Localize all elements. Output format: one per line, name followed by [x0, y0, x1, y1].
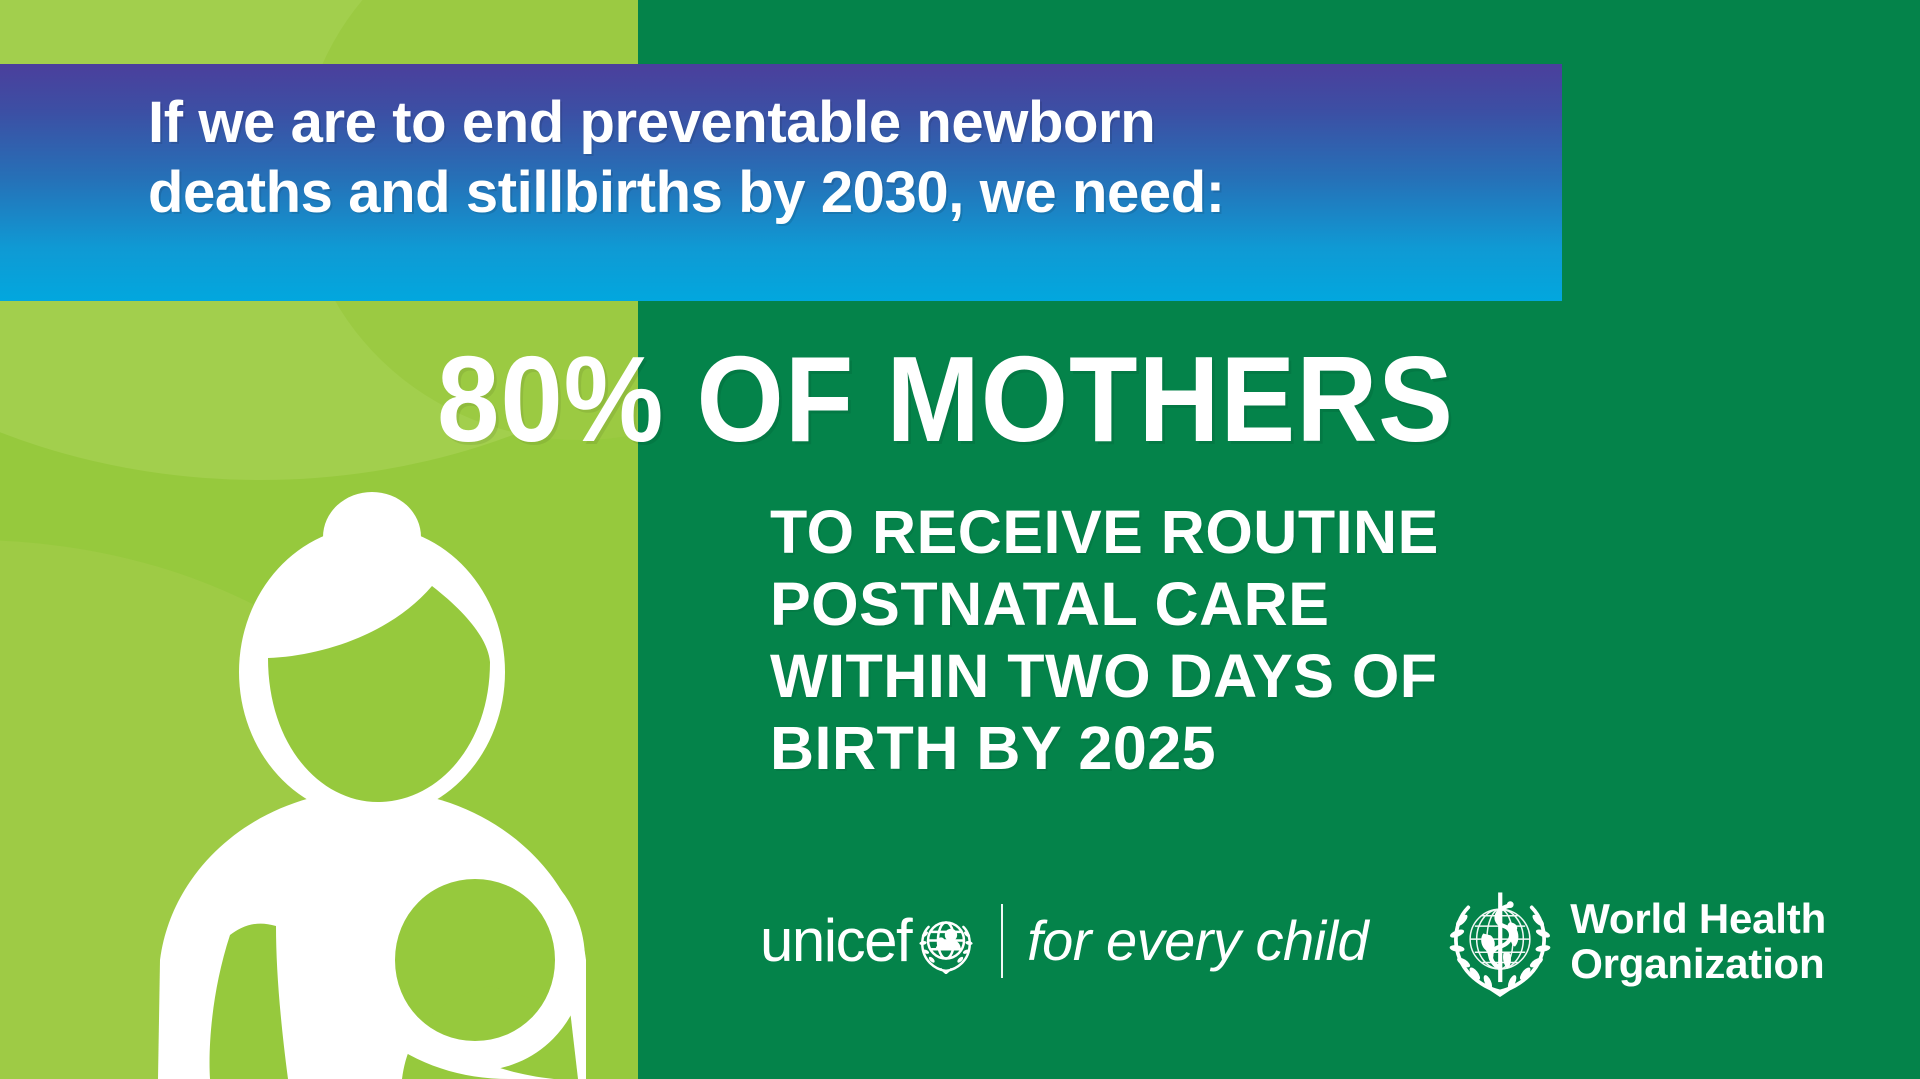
- logo-divider: [1001, 904, 1003, 978]
- banner-text: If we are to end preventable newborn dea…: [148, 88, 1522, 227]
- who-emblem: [1444, 885, 1556, 997]
- logo-strip: unicef: [760, 886, 1826, 996]
- unicef-logo: unicef: [760, 899, 1368, 983]
- page-title: 80% OF MOTHERS: [437, 338, 1661, 460]
- who-logo: World Health Organization: [1444, 885, 1826, 997]
- infographic-poster: If we are to end preventable newborn dea…: [0, 0, 1920, 1079]
- subtitle-text: TO RECEIVE ROUTINE POSTNATAL CARE WITHIN…: [770, 497, 1690, 785]
- who-organization-name: World Health Organization: [1570, 896, 1826, 987]
- unicef-tagline: for every child: [1027, 913, 1368, 969]
- unicef-globe-emblem: [915, 912, 977, 974]
- mother-holding-baby-icon: [150, 490, 620, 1079]
- unicef-wordmark: unicef: [760, 911, 911, 971]
- headline-banner: If we are to end preventable newborn dea…: [0, 64, 1562, 301]
